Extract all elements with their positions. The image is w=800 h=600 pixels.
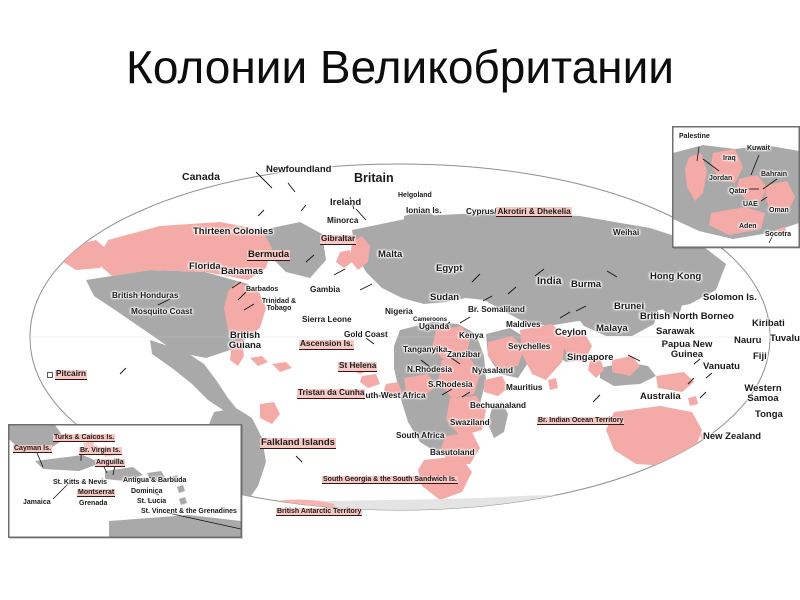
caribbean-inset[interactable]: Cayman Is. Turks & Caicos Is. Br. Virgin… [8,424,242,538]
inset-label-antigua-barbuda[interactable]: Antigua & Barbuda [123,477,186,484]
map-label-tonga[interactable]: Tonga [755,410,783,420]
map-label-uganda[interactable]: Uganda [419,323,449,332]
map-label-zanzibar[interactable]: Zanzibar [447,351,481,360]
map-label-nyasaland[interactable]: Nyasaland [472,367,513,376]
map-label-ionian-is[interactable]: Ionian Is. [406,207,442,216]
map-label-br-somaliland[interactable]: Br. Somaliland [468,306,525,315]
inset-label-jordan[interactable]: Jordan [709,175,732,182]
map-label-barbados[interactable]: Barbados [246,286,278,293]
cyprus-text: Cyprus/ [466,207,496,216]
map-label-kenya[interactable]: Kenya [459,332,484,341]
inset-label-grenada[interactable]: Grenada [79,500,107,507]
inset-label-anguilla[interactable]: Anguilla [95,459,125,467]
map-label-solomon-is[interactable]: Solomon Is. [703,293,757,303]
map-label-bahamas[interactable]: Bahamas [221,267,263,277]
inset-label-socotra[interactable]: Socotra [765,231,791,238]
map-label-sierra-leone[interactable]: Sierra Leone [302,316,352,325]
map-label-cyprus-akrotiri-dhekelia[interactable]: Cyprus/Akrotiri & Dhekelia [466,208,572,217]
inset-label-cayman-is[interactable]: Cayman Is. [13,445,52,453]
map-label-hong-kong[interactable]: Hong Kong [650,272,701,282]
map-label-british-guiana[interactable]: BritishGuiana [222,331,268,351]
map-label-sudan[interactable]: Sudan [430,293,459,303]
map-label-egypt[interactable]: Egypt [436,264,462,274]
map-label-canada[interactable]: Canada [182,172,220,183]
map-label-kiribati[interactable]: Kiribati [752,319,785,329]
map-label-trinidad-and-tobago[interactable]: Trinidad &Tobago [256,298,302,313]
map-label-pitcairn[interactable]: Pitcairn [55,370,87,380]
map-label-seychelles[interactable]: Seychelles [508,343,550,352]
map-label-singapore[interactable]: Singapore [567,353,613,363]
inset-label-br-virgin-is[interactable]: Br. Virgin Is. [79,447,122,455]
map-label-mosquito-coast[interactable]: Mosquito Coast [131,308,192,317]
inset-label-palestine[interactable]: Palestine [679,133,710,140]
middle-east-inset[interactable]: Palestine Iraq Kuwait Jordan Bahrain Qat… [672,126,800,248]
map-label-tanganyika[interactable]: Tanganyika [403,346,447,355]
inset-label-aden[interactable]: Aden [739,223,757,230]
inset-label-bahrain[interactable]: Bahrain [761,171,787,178]
map-label-south-africa[interactable]: South Africa [396,432,444,441]
inset-label-turks-caicos[interactable]: Turks & Caicos Is. [53,434,115,442]
map-label-malta[interactable]: Malta [378,250,402,260]
map-label-maldives[interactable]: Maldives [506,321,541,330]
map-label-gibraltar[interactable]: Gibraltar [320,235,356,245]
pitcairn-marker [47,372,53,378]
map-label-newfoundland[interactable]: Newfoundland [266,165,331,175]
map-label-ireland[interactable]: Ireland [330,198,361,208]
map-label-basutoland[interactable]: Basutoland [430,449,475,458]
inset-label-kuwait[interactable]: Kuwait [747,145,770,152]
map-label-minorca[interactable]: Minorca [327,217,358,226]
map-label-st-helena[interactable]: St Helena [338,362,377,372]
map-label-gambia[interactable]: Gambia [310,286,340,295]
inset-label-st-lucia[interactable]: St. Lucia [137,498,166,505]
map-label-british-north-borneo[interactable]: British North Borneo [640,312,734,322]
inset-label-iraq[interactable]: Iraq [723,155,736,162]
british-antarctic-territory-region [258,500,340,535]
map-label-new-zealand[interactable]: New Zealand [703,432,761,442]
map-label-bermuda[interactable]: Bermuda [247,250,290,261]
map-label-helgoland[interactable]: Helgoland [398,192,432,199]
map-label-nigeria[interactable]: Nigeria [385,308,413,317]
map-label-sarawak[interactable]: Sarawak [656,327,695,337]
page-title: Колонии Великобритании [0,40,800,94]
map-label-fiji[interactable]: Fiji [753,352,767,362]
map-label-br-indian-ocean-territory[interactable]: Br. Indian Ocean Territory [537,417,624,425]
map-label-british-antarctic-territory[interactable]: British Antarctic Territory [276,508,362,516]
inset-label-oman[interactable]: Oman [769,207,789,214]
map-label-tuvalu[interactable]: Tuvalu [770,334,800,344]
map-label-vanuatu[interactable]: Vanuatu [703,362,740,372]
map-label-florida[interactable]: Florida [189,262,221,272]
map-label-mauritius[interactable]: Mauritius [506,384,542,393]
map-label-swaziland[interactable]: Swaziland [450,419,490,428]
inset-label-dominica[interactable]: Dominica [131,488,163,495]
map-label-malaya[interactable]: Malaya [596,324,628,334]
map-label-india[interactable]: India [537,276,562,287]
middle-east-inset-graphic [673,127,799,247]
inset-label-st-kitts-nevis[interactable]: St. Kitts & Nevis [53,479,107,486]
map-label-britain[interactable]: Britain [354,172,394,185]
map-label-burma[interactable]: Burma [571,280,601,290]
world-map: Canada Newfoundland Thirteen Colonies Be… [0,112,800,562]
map-label-western-samoa[interactable]: WesternSamoa [740,384,786,404]
map-label-papua-new-guinea[interactable]: Papua NewGuinea [658,340,716,360]
map-label-british-honduras[interactable]: British Honduras [112,292,178,301]
inset-label-uae[interactable]: UAE [743,201,758,208]
map-label-thirteen-colonies[interactable]: Thirteen Colonies [193,227,273,237]
map-label-nauru[interactable]: Nauru [734,336,761,346]
map-label-south-west-africa[interactable]: South-West Africa [355,392,426,401]
inset-label-st-vincent-grenadines[interactable]: St. Vincent & the Grenadines [141,508,237,515]
akrotiri-dhekelia-text: Akrotiri & Dhekelia [496,207,571,217]
map-label-falkland-islands[interactable]: Falkland Islands [260,438,336,449]
inset-label-montserrat[interactable]: Montserrat [77,489,115,497]
map-label-s-rhodesia[interactable]: S.Rhodesia [428,381,473,390]
map-label-ceylon[interactable]: Ceylon [555,328,587,338]
map-label-tristan-da-cunha[interactable]: Tristan da Cunha [297,389,365,399]
inset-label-qatar[interactable]: Qatar [729,188,747,195]
map-label-australia[interactable]: Australia [640,392,681,402]
map-label-n-rhodesia[interactable]: N.Rhodesia [407,366,452,375]
map-label-bechuanaland[interactable]: Bechuanaland [470,402,526,411]
map-label-weihai[interactable]: Weihai [613,229,639,238]
map-label-ascension-is[interactable]: Ascension Is. [299,340,354,350]
map-label-south-georgia-sandwich[interactable]: South Georgia & the South Sandwich Is. [322,476,458,484]
inset-label-jamaica[interactable]: Jamaica [23,499,51,506]
